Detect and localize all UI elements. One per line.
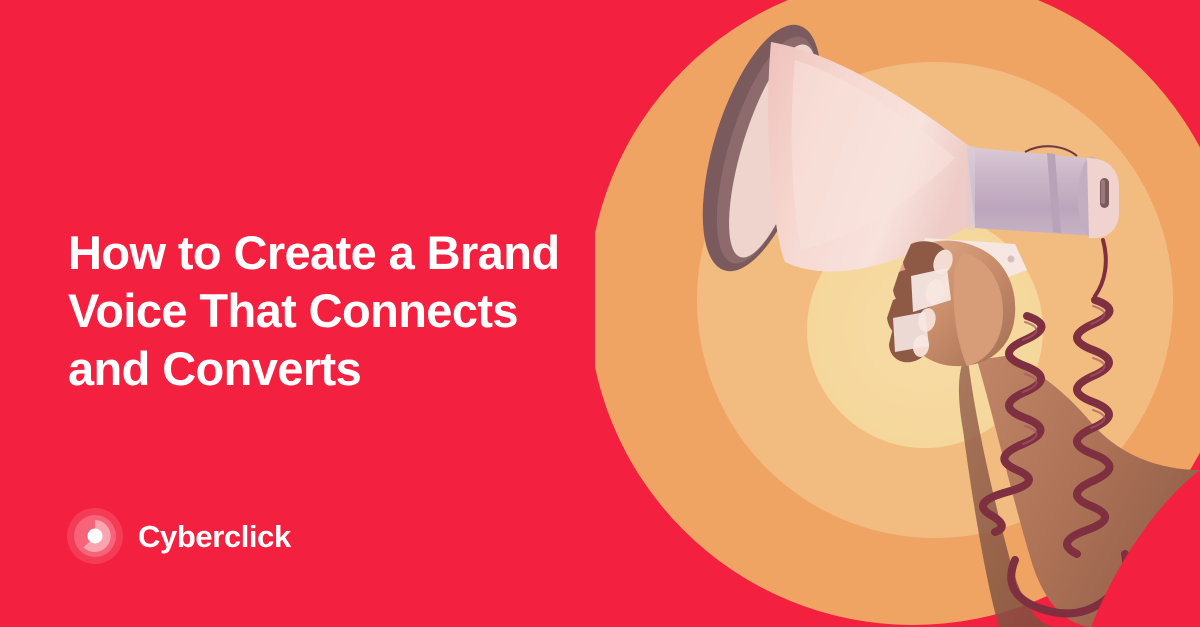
brand-name: Cyberclick [138,521,291,552]
handle-grip-visible-lower [893,312,929,352]
megaphone-illustration-svg [595,0,1200,627]
blog-banner: How to Create a Brand Voice That Connect… [0,0,1200,627]
headline-line-1: How to Create a Brand [68,224,608,282]
logo-center-dot [88,529,103,544]
megaphone-body-group [967,146,1119,238]
megaphone-endcap-switch-highlight [1101,180,1105,204]
headline-line-2: Voice That Connects [68,282,608,340]
logo-mark-svg [66,507,124,565]
cyberclick-circle-mark-icon [66,507,124,565]
cyberclick-logo[interactable]: Cyberclick [66,507,291,565]
handle-screw-2 [1008,256,1015,263]
headline-line-3: and Converts [68,340,608,398]
page-title: How to Create a Brand Voice That Connect… [68,224,608,398]
megaphone-body [967,147,1095,236]
megaphone-body-highlight [967,146,975,230]
hero-illustration [595,0,1200,627]
